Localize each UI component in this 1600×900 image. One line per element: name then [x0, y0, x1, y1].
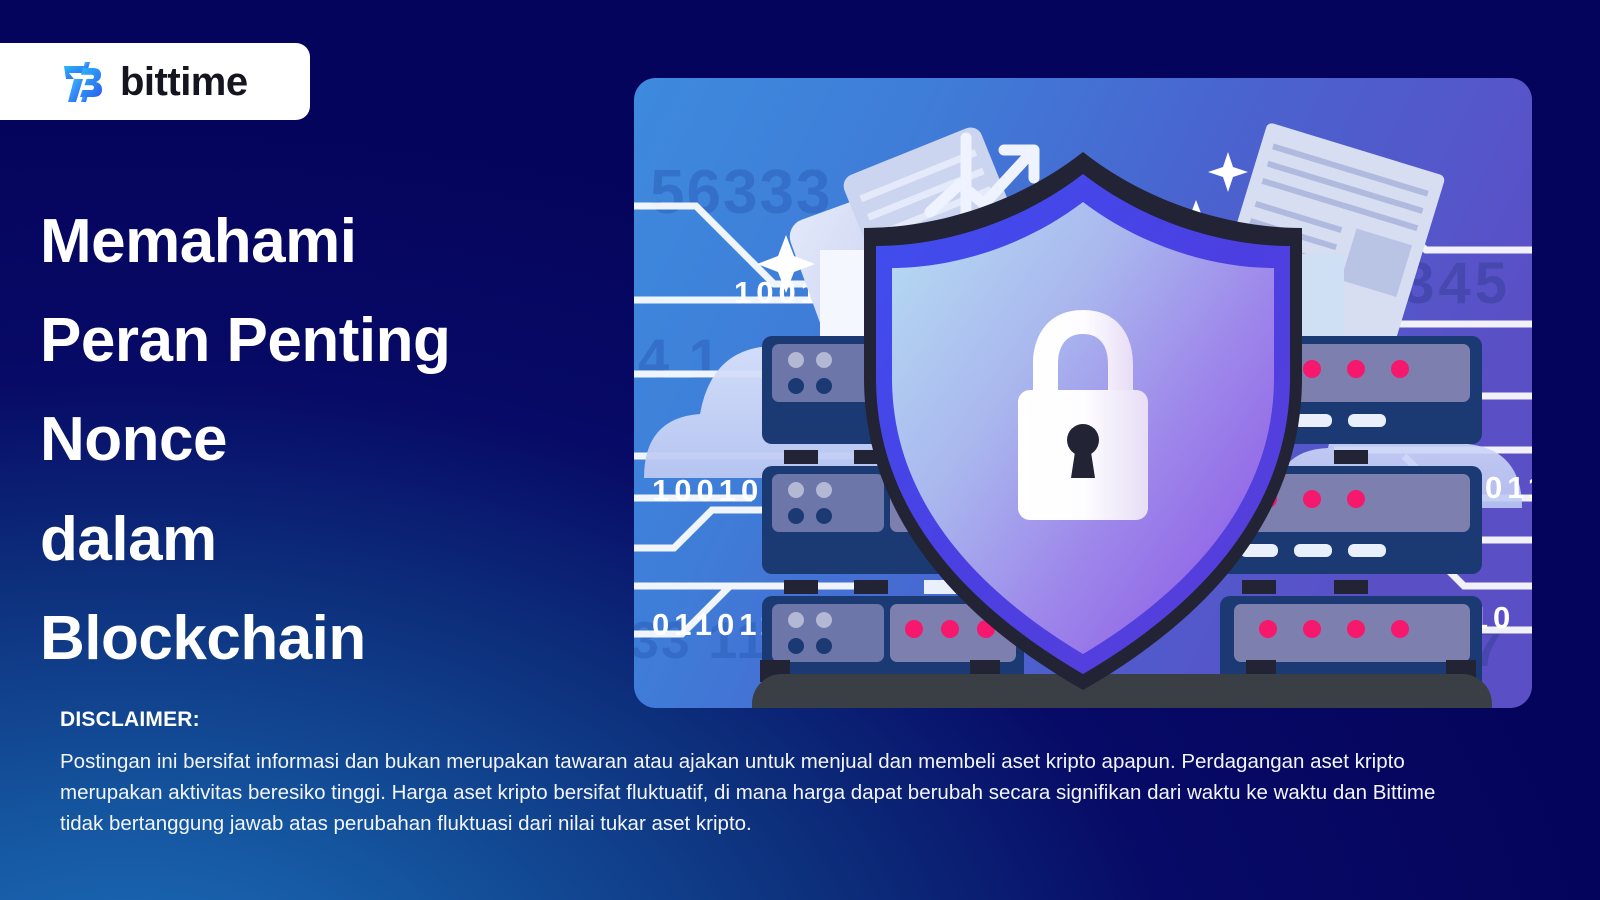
page-title: Memahami Peran Penting Nonce dalam Block… [40, 192, 600, 688]
disclaimer-title: DISCLAIMER: [60, 708, 1480, 732]
headline-line-3: Nonce [40, 390, 600, 489]
brand-logo-badge[interactable]: bittime [0, 43, 310, 120]
faded-number-41: 4 1 [638, 327, 722, 390]
headline-line-4: dalam [40, 490, 600, 589]
faded-number-56333: 56333 [650, 158, 832, 227]
blockchain-security-illustration: 56333 4 1 33 111 1 2345 77 [634, 78, 1532, 708]
brand-name: bittime [120, 62, 248, 102]
disclaimer-block: DISCLAIMER: Postingan ini bersifat infor… [60, 708, 1480, 839]
bittime-7b-logo-icon [60, 58, 106, 106]
headline-line-5: Blockchain [40, 589, 600, 688]
disclaimer-body: Postingan ini bersifat informasi dan buk… [60, 746, 1480, 839]
headline-line-2: Peran Penting [40, 291, 600, 390]
poster-canvas: bittime Memahami Peran Penting Nonce dal… [0, 0, 1600, 900]
headline-line-1: Memahami [40, 192, 600, 291]
illustration-svg: 56333 4 1 33 111 1 2345 77 [634, 78, 1532, 708]
